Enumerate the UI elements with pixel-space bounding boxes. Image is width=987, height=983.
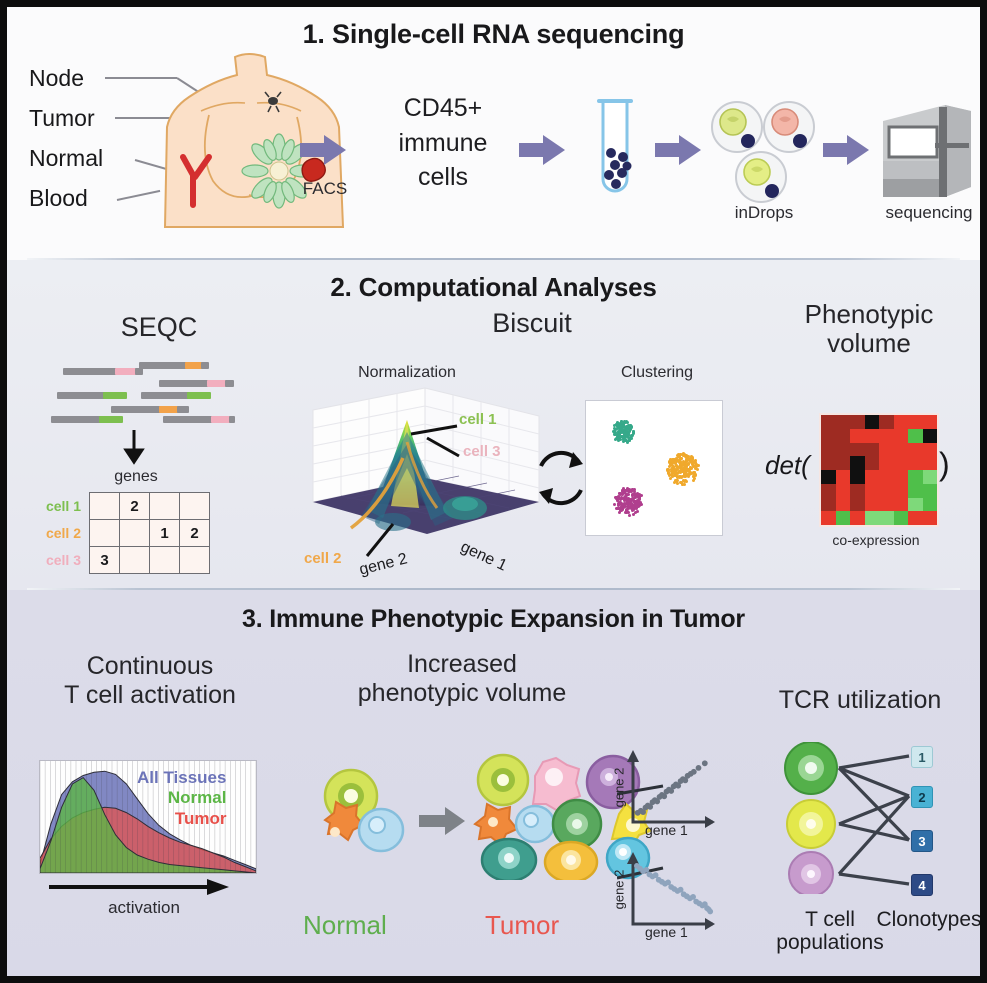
heatmap-cell-r5c0 (821, 484, 836, 498)
tcr-edge-0-0 (839, 756, 909, 768)
iterative-cycle-icon (533, 438, 589, 520)
cluster-orange-point (689, 458, 692, 461)
heatmap-cell-r7c4 (879, 511, 894, 525)
heatmap-cell-r2c4 (879, 443, 894, 457)
label-tumor-group: Tumor (485, 910, 559, 941)
heatmap-cell-r5c4 (879, 484, 894, 498)
clonotype-3[interactable]: 3 (911, 830, 933, 852)
heatmap-cell-r1c7 (923, 429, 938, 443)
heatmap-cell-r4c6 (908, 470, 923, 484)
matrix-header-genes: genes (93, 468, 179, 486)
cluster-teal-point (618, 425, 621, 428)
matrix-row-label-cell1: cell 1 (25, 498, 81, 514)
scatter-negative: gene 2 gene 1 (615, 852, 715, 942)
scatter-positive: gene 2 gene 1 (615, 750, 715, 840)
table-row: 2 (90, 493, 210, 520)
anatomy-label-normal: Normal (29, 145, 103, 172)
legend-all-tissues: All Tissues (137, 768, 226, 788)
heatmap-cell-r7c5 (894, 511, 909, 525)
heatmap-cell-r5c7 (923, 484, 938, 498)
cluster-orange-point (667, 471, 670, 474)
heatmap-cell-r3c3 (865, 456, 880, 470)
cell-green (553, 800, 601, 848)
volume-title-line2: phenotypic volume (297, 679, 627, 708)
activation-axis-label: activation (69, 898, 219, 918)
det-formula-left: det( (765, 450, 810, 481)
scatter-point (691, 769, 697, 775)
heatmap-cell-r6c2 (850, 498, 865, 512)
sequencer-icon (879, 99, 975, 205)
heatmap-cell-r5c1 (836, 484, 851, 498)
cluster-orange-point (684, 475, 687, 478)
cluster-orange-point (684, 454, 687, 457)
clonotype-1[interactable]: 1 (911, 746, 933, 768)
heatmap-cell-r6c6 (908, 498, 923, 512)
heatmap-cell-r1c6 (908, 429, 923, 443)
arrow-facs (300, 135, 346, 165)
cluster-magenta-point (631, 504, 634, 507)
heatmap-cell-r0c6 (908, 415, 923, 429)
tcr-edge-0-1 (839, 768, 909, 796)
heatmap-cell-r2c6 (908, 443, 923, 457)
clustering-tsne-plot (585, 400, 723, 536)
cell-lightblue-2 (516, 806, 554, 842)
heatmap-cell-r4c0 (821, 470, 836, 484)
scatter-bottom-ylabel: gene 2 (611, 870, 626, 910)
heatmap-cell-r2c2 (850, 443, 865, 457)
heatmap-cell-r5c2 (850, 484, 865, 498)
heatmap-cell-r6c7 (923, 498, 938, 512)
heatmap-cell-r1c2 (850, 429, 865, 443)
det-formula-right: ) (939, 446, 950, 483)
svg-text:cell 3: cell 3 (463, 443, 501, 460)
heatmap-cell-r1c1 (836, 429, 851, 443)
heatmap-cell-r0c5 (894, 415, 909, 429)
heatmap-cell-r7c2 (850, 511, 865, 525)
cell-yellowgreen-2 (478, 755, 528, 805)
cluster-magenta-point (631, 494, 634, 497)
label-facs: FACS (290, 179, 360, 199)
heatmap-cell-r0c7 (923, 415, 938, 429)
legend-normal: Normal (137, 788, 226, 808)
tcell-population-green (785, 742, 837, 794)
heatmap-cell-r1c5 (894, 429, 909, 443)
cluster-orange-point (694, 467, 697, 470)
volume-title-line1: Increased (297, 650, 627, 679)
heatmap-cell-r4c7 (923, 470, 938, 484)
anatomy-label-blood: Blood (29, 185, 88, 212)
clonotype-4[interactable]: 4 (911, 874, 933, 896)
heatmap-cell-r2c5 (894, 443, 909, 457)
heatmap-cell-r5c6 (908, 484, 923, 498)
cluster-orange-point (692, 471, 695, 474)
cluster-magenta-point (626, 493, 629, 496)
scatter-point (696, 765, 702, 771)
cluster-teal-point (627, 439, 630, 442)
anatomy-label-node: Node (29, 65, 84, 92)
label-sequencing: sequencing (859, 203, 987, 223)
heatmap-cell-r3c1 (836, 456, 851, 470)
heatmap-cell-r1c3 (865, 429, 880, 443)
cluster-orange-point (677, 453, 680, 456)
cd45-line3: cells (373, 160, 513, 195)
arrow-to-sequencing (823, 135, 869, 165)
cluster-orange-point (678, 475, 681, 478)
normal-cell-group (303, 768, 413, 868)
heatmap-cell-r2c3 (865, 443, 880, 457)
table-row: 3 (90, 547, 210, 574)
cell-r0c2 (150, 493, 180, 520)
heatmap-cell-r4c4 (879, 470, 894, 484)
scatter-point (702, 760, 708, 766)
heatmap-cell-r6c3 (865, 498, 880, 512)
heatmap-cell-r6c1 (836, 498, 851, 512)
cell-lightblue (359, 809, 403, 851)
cd45-line1: CD45+ (373, 91, 513, 126)
phenotypic-title-line1: Phenotypic (769, 300, 969, 329)
heatmap-cell-r3c6 (908, 456, 923, 470)
tcr-edge-1-2 (839, 824, 909, 840)
heatmap-cell-r0c1 (836, 415, 851, 429)
tcr-edge-2-3 (839, 874, 909, 884)
panel-single-cell-rna-sequencing: 1. Single-cell RNA sequencing Node Tumor… (7, 7, 980, 260)
heatmap-cell-r2c0 (821, 443, 836, 457)
cell-r2c3 (180, 547, 210, 574)
panel1-title: 1. Single-cell RNA sequencing (7, 19, 980, 50)
cluster-orange-point (675, 471, 678, 474)
cluster-magenta-point (636, 505, 639, 508)
tcell-population-yellow (787, 800, 835, 848)
heatmap-cell-r6c5 (894, 498, 909, 512)
heatmap-cell-r1c0 (821, 429, 836, 443)
cluster-magenta-point (636, 510, 639, 513)
cluster-orange-point (690, 467, 693, 470)
heatmap-cell-r3c7 (923, 456, 938, 470)
label-normal-group: Normal (303, 910, 387, 941)
cluster-teal-point (629, 426, 632, 429)
heatmap-cell-r4c1 (836, 470, 851, 484)
heatmap-cell-r3c5 (894, 456, 909, 470)
cluster-orange-point (671, 475, 674, 478)
heatmap-cell-r1c4 (879, 429, 894, 443)
tcr-edge-0-2 (839, 768, 909, 840)
heatmap-cell-r0c0 (821, 415, 836, 429)
table-row: 1 2 (90, 520, 210, 547)
heatmap-cell-r4c2 (850, 470, 865, 484)
cluster-teal-point (630, 435, 633, 438)
transition-arrow (419, 806, 467, 836)
phenotypic-volume-title: Phenotypic volume (769, 300, 969, 358)
coexpression-heatmap (819, 413, 939, 527)
cluster-orange-point (689, 471, 692, 474)
clustering-label: Clustering (587, 364, 727, 382)
heatmap-cell-r2c7 (923, 443, 938, 457)
cluster-orange-point (670, 468, 673, 471)
cell-r1c1 (120, 520, 150, 547)
panel3-title: 3. Immune Phenotypic Expansion in Tumor (7, 605, 980, 634)
tcell-pop-line2: populations (765, 931, 895, 954)
cell-r0c0 (90, 493, 120, 520)
scatter-point (707, 909, 713, 915)
heatmap-cell-r3c2 (850, 456, 865, 470)
coexpression-caption: co-expression (801, 532, 951, 548)
density-legend: All Tissues Normal Tumor (137, 768, 226, 829)
surface-label-cell2: cell 2 (304, 550, 342, 567)
cluster-teal-point (623, 439, 626, 442)
cell-teal (482, 839, 536, 880)
cell-r0c1: 2 (120, 493, 150, 520)
matrix-row-label-cell2: cell 2 (25, 525, 81, 541)
heatmap-cell-r2c1 (836, 443, 851, 457)
heatmap-cell-r7c6 (908, 511, 923, 525)
panel-computational-analyses: 2. Computational Analyses SEQC genes cel… (7, 260, 980, 590)
tcr-title: TCR utilization (742, 686, 978, 714)
cluster-orange-point (684, 468, 687, 471)
arrow-to-indrops (655, 135, 701, 165)
cell-r1c0 (90, 520, 120, 547)
tcell-population-purple (789, 852, 833, 894)
tcr-bipartite-graph (769, 742, 969, 894)
count-matrix: 2 1 2 3 (89, 492, 210, 574)
heatmap-cell-r6c4 (879, 498, 894, 512)
cell-r2c2 (150, 547, 180, 574)
cd45-line2: immune (373, 126, 513, 161)
cell-r0c3 (180, 493, 210, 520)
svg-text:cell 1: cell 1 (459, 411, 497, 428)
indrops-droplets-icon (709, 99, 819, 209)
scatter-top-ylabel: gene 2 (611, 768, 626, 808)
normalization-surface-plot: cell 1 cell 3 (307, 382, 567, 567)
anatomy-label-tumor: Tumor (29, 105, 95, 132)
downward-arrow-icon (123, 430, 145, 466)
heatmap-cell-r0c3 (865, 415, 880, 429)
heatmap-cell-r7c3 (865, 511, 880, 525)
activation-title: Continuous T cell activation (25, 652, 275, 710)
heatmap-cell-r7c7 (923, 511, 938, 525)
seqc-title: SEQC (59, 312, 259, 342)
test-tube-icon (585, 95, 645, 207)
graphical-abstract: 1. Single-cell RNA sequencing Node Tumor… (0, 0, 987, 983)
cluster-magenta-point (628, 514, 631, 517)
cluster-orange-point (695, 463, 698, 466)
heatmap-cell-r7c1 (836, 511, 851, 525)
heatmap-cell-r3c4 (879, 456, 894, 470)
clonotypes-label: Clonotypes (869, 908, 987, 932)
cluster-orange-point (679, 469, 682, 472)
phenotypic-title-line2: volume (769, 329, 969, 358)
cell-r2c0: 3 (90, 547, 120, 574)
leader-blood (117, 190, 160, 201)
heatmap-cell-r7c0 (821, 511, 836, 525)
cluster-teal-point (616, 435, 619, 438)
tcr-edge-2-1 (839, 796, 909, 874)
cell-r1c3: 2 (180, 520, 210, 547)
heatmap-cell-r5c5 (894, 484, 909, 498)
biscuit-title: Biscuit (407, 308, 657, 338)
cluster-magenta-point (613, 503, 616, 506)
cell-r2c1 (120, 547, 150, 574)
heatmap-cell-r5c3 (865, 484, 880, 498)
panel-immune-phenotypic-expansion: 3. Immune Phenotypic Expansion in Tumor … (7, 590, 980, 983)
label-cd45-immune-cells: CD45+ immune cells (373, 91, 513, 195)
cluster-magenta-point (626, 510, 629, 513)
cluster-magenta-point (622, 491, 625, 494)
clonotype-2[interactable]: 2 (911, 786, 933, 808)
matrix-row-label-cell3: cell 3 (25, 552, 81, 568)
activation-axis-arrow (49, 878, 233, 896)
cell-amber (545, 842, 597, 880)
heatmap-cell-r6c0 (821, 498, 836, 512)
scatter-top-xlabel: gene 1 (645, 822, 688, 838)
cluster-orange-point (674, 461, 677, 464)
label-indrops: inDrops (704, 203, 824, 223)
cluster-orange-point (693, 477, 696, 480)
scatter-bottom-xlabel: gene 1 (645, 924, 688, 940)
arrow-to-tube (519, 135, 565, 165)
cluster-orange-point (694, 459, 697, 462)
cluster-magenta-point (618, 507, 621, 510)
heatmap-cell-r4c5 (894, 470, 909, 484)
volume-title: Increased phenotypic volume (297, 650, 627, 708)
activation-title-line1: Continuous (25, 652, 275, 681)
heatmap-cell-r0c2 (850, 415, 865, 429)
heatmap-cell-r3c0 (821, 456, 836, 470)
cell-r1c2: 1 (150, 520, 180, 547)
activation-title-line2: T cell activation (25, 681, 275, 710)
heatmap-cell-r0c4 (879, 415, 894, 429)
cluster-magenta-point (632, 513, 635, 516)
legend-tumor: Tumor (137, 809, 226, 829)
cluster-magenta-point (633, 488, 636, 491)
normalization-label: Normalization (317, 364, 497, 382)
heatmap-cell-r4c3 (865, 470, 880, 484)
